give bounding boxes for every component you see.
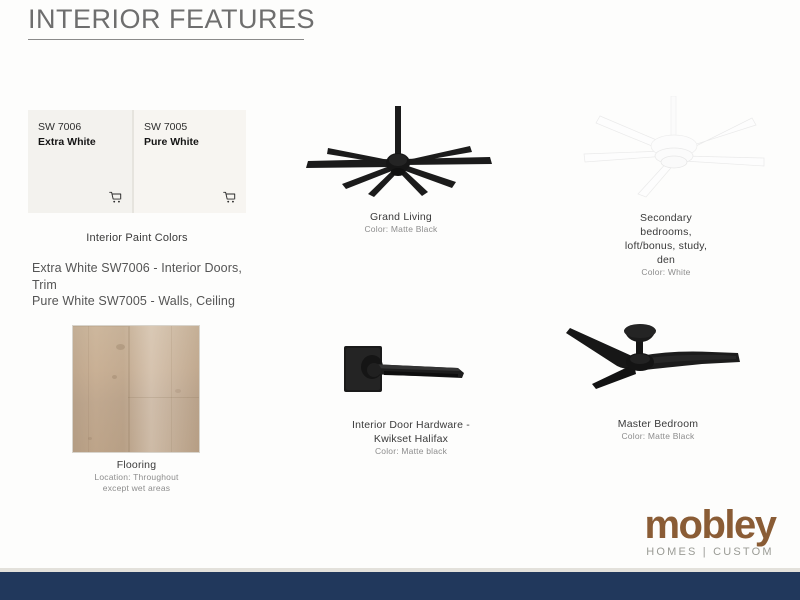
shopping-cart-icon[interactable]	[109, 191, 122, 204]
paint-swatch-code: SW 7005	[144, 120, 246, 135]
slide-canvas: INTERIOR FEATURES SW 7006 Extra White SW…	[0, 0, 800, 600]
page-title: INTERIOR FEATURES	[28, 4, 315, 38]
paint-swatch-name: Extra White	[38, 135, 132, 150]
paint-swatch-code: SW 7006	[38, 120, 132, 135]
door-hardware-caption: Interior Door Hardware - Kwikset Halifax…	[313, 418, 509, 457]
flooring-caption-line-1: Location: Throughout	[55, 472, 218, 483]
door-lever-image	[340, 340, 468, 406]
paint-colors-label: Interior Paint Colors	[28, 232, 246, 244]
secondary-bedrooms-caption-line-4: den	[583, 253, 749, 267]
flooring-sample-image	[72, 325, 200, 453]
paint-swatch-extra-white[interactable]: SW 7006 Extra White	[28, 110, 134, 213]
title-underline	[28, 39, 304, 40]
grand-living-caption-title: Grand Living	[318, 210, 484, 224]
flooring-caption-line-2: except wet areas	[55, 483, 218, 494]
shopping-cart-icon[interactable]	[223, 191, 236, 204]
grand-living-caption: Grand Living Color: Matte Black	[318, 210, 484, 235]
paint-swatch-name: Pure White	[144, 135, 246, 150]
master-bedroom-caption-color: Color: Matte Black	[570, 431, 746, 442]
paint-description-line-1: Extra White SW7006 - Interior Doors,	[32, 260, 292, 277]
secondary-bedrooms-caption-line-1: Secondary	[583, 211, 749, 225]
secondary-bedrooms-fan-image	[578, 96, 772, 202]
secondary-bedrooms-caption-line-3: loft/bonus, study,	[583, 239, 749, 253]
logo-tagline: HOMES | CUSTOM	[628, 546, 792, 558]
grand-living-caption-color: Color: Matte Black	[318, 224, 484, 235]
paint-description-line-3: Pure White SW7005 - Walls, Ceiling	[32, 293, 292, 310]
door-hardware-caption-color: Color: Matte black	[313, 446, 509, 457]
secondary-bedrooms-caption-color: Color: White	[583, 267, 749, 278]
master-bedroom-fan-image	[552, 312, 756, 408]
secondary-bedrooms-caption: Secondary bedrooms, loft/bonus, study, d…	[583, 211, 749, 278]
door-hardware-caption-line-1: Interior Door Hardware -	[313, 418, 509, 432]
flooring-caption-title: Flooring	[55, 458, 218, 472]
master-bedroom-caption: Master Bedroom Color: Matte Black	[570, 417, 746, 442]
paint-description: Extra White SW7006 - Interior Doors, Tri…	[32, 260, 292, 310]
grand-living-fan-image	[298, 104, 502, 204]
footer-bar	[0, 572, 800, 600]
page-title-block: INTERIOR FEATURES	[28, 4, 315, 40]
paint-description-line-2: Trim	[32, 277, 292, 294]
flooring-caption: Flooring Location: Throughout except wet…	[55, 458, 218, 494]
master-bedroom-caption-title: Master Bedroom	[570, 417, 746, 431]
secondary-bedrooms-caption-line-2: bedrooms,	[583, 225, 749, 239]
door-hardware-caption-line-2: Kwikset Halifax	[313, 432, 509, 446]
logo-wordmark: mobley	[628, 506, 792, 544]
paint-swatch-card: SW 7006 Extra White SW 7005 Pure White	[28, 110, 246, 213]
mobley-logo: mobley HOMES | CUSTOM	[628, 506, 792, 558]
paint-swatch-pure-white[interactable]: SW 7005 Pure White	[134, 110, 246, 213]
